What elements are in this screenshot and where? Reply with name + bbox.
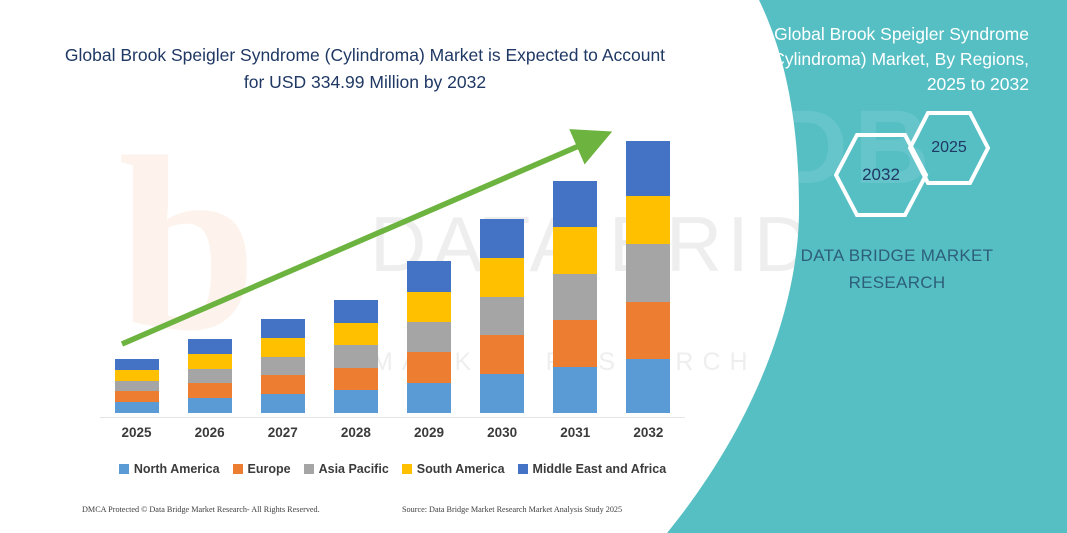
right-panel-content: Global Brook Speigler Syndrome (Cylindro…: [727, 0, 1067, 533]
chart-legend: North AmericaEuropeAsia PacificSouth Ame…: [100, 459, 685, 479]
legend-swatch: [402, 464, 412, 474]
bar-segment: [480, 219, 524, 258]
legend-swatch: [119, 464, 129, 474]
x-axis-tick-label: 2025: [102, 425, 172, 440]
bar-segment: [553, 274, 597, 320]
bar-column: [407, 261, 451, 413]
bar-column: [480, 219, 524, 413]
bar-segment: [480, 335, 524, 374]
x-axis-tick-label: 2031: [540, 425, 610, 440]
bar-segment: [188, 369, 232, 384]
bar-segment: [626, 141, 670, 196]
bar-segment: [115, 391, 159, 402]
bar-segment: [261, 357, 305, 376]
bar-segment: [407, 292, 451, 322]
bar-segment: [480, 374, 524, 413]
bar-segment: [626, 196, 670, 244]
bar-segment: [407, 352, 451, 382]
bar-segment: [407, 261, 451, 291]
legend-item[interactable]: South America: [402, 462, 505, 476]
bar-column: [334, 300, 378, 413]
x-axis-tick-label: 2026: [175, 425, 245, 440]
hexagon-start-year-label: 2025: [907, 110, 991, 186]
footer-source: Source: Data Bridge Market Research Mark…: [402, 505, 622, 514]
stacked-bar-group: [100, 120, 685, 413]
bar-segment: [188, 339, 232, 354]
footer: DMCA Protected © Data Bridge Market Rese…: [0, 505, 730, 527]
bar-segment: [407, 322, 451, 352]
bar-segment: [188, 354, 232, 369]
x-axis-tick-label: 2028: [321, 425, 391, 440]
right-teal-panel: DB Global Brook Speigler Syndrome (Cylin…: [667, 0, 1067, 533]
bar-segment: [334, 368, 378, 391]
x-axis-tick-label: 2029: [394, 425, 464, 440]
chart-area: b DATA BRIDGE MARKET RESEARCH Global Bro…: [0, 0, 730, 533]
bar-segment: [188, 398, 232, 413]
bar-segment: [115, 381, 159, 392]
x-axis-tick-label: 2030: [467, 425, 537, 440]
bar-segment: [626, 359, 670, 413]
bar-segment: [115, 370, 159, 381]
bar-segment: [115, 402, 159, 413]
bar-column: [188, 339, 232, 413]
bar-segment: [115, 359, 159, 370]
legend-item[interactable]: North America: [119, 462, 220, 476]
bar-segment: [626, 302, 670, 359]
page-title: Global Brook Speigler Syndrome (Cylindro…: [60, 42, 670, 96]
bar-segment: [626, 244, 670, 301]
x-axis-tick-label: 2027: [248, 425, 318, 440]
bar-column: [261, 319, 305, 413]
legend-swatch: [518, 464, 528, 474]
bar-segment: [407, 383, 451, 413]
bar-segment: [334, 300, 378, 323]
bar-segment: [553, 227, 597, 273]
bar-segment: [553, 367, 597, 413]
legend-label: North America: [134, 462, 220, 476]
bar-segment: [188, 383, 232, 398]
bar-segment: [334, 345, 378, 368]
panel-title: Global Brook Speigler Syndrome (Cylindro…: [739, 22, 1029, 97]
bar-segment: [334, 323, 378, 346]
panel-brand-text: DATA BRIDGE MARKET RESEARCH: [762, 242, 1032, 296]
x-axis-labels: 20252026202720282029203020312032: [100, 425, 685, 447]
legend-item[interactable]: Asia Pacific: [304, 462, 389, 476]
legend-swatch: [233, 464, 243, 474]
legend-label: Europe: [248, 462, 291, 476]
legend-label: South America: [417, 462, 505, 476]
infographic-page: b DATA BRIDGE MARKET RESEARCH Global Bro…: [0, 0, 1067, 533]
legend-label: Middle East and Africa: [533, 462, 667, 476]
bar-segment: [261, 319, 305, 338]
bar-column: [115, 359, 159, 413]
bar-segment: [261, 338, 305, 357]
bar-column: [553, 181, 597, 413]
bar-segment: [261, 394, 305, 413]
footer-copyright: DMCA Protected © Data Bridge Market Rese…: [82, 505, 320, 514]
legend-swatch: [304, 464, 314, 474]
x-axis-line: [100, 417, 685, 418]
bar-segment: [480, 258, 524, 297]
bar-segment: [480, 297, 524, 336]
bar-segment: [553, 181, 597, 227]
bar-segment: [261, 375, 305, 394]
bar-segment: [334, 390, 378, 413]
hexagon-badges: 2032 2025: [809, 108, 1049, 218]
bar-column: [626, 141, 670, 413]
legend-item[interactable]: Middle East and Africa: [518, 462, 667, 476]
hexagon-badge-start-year: 2025: [907, 110, 991, 186]
bar-segment: [553, 320, 597, 366]
legend-item[interactable]: Europe: [233, 462, 291, 476]
legend-label: Asia Pacific: [319, 462, 389, 476]
